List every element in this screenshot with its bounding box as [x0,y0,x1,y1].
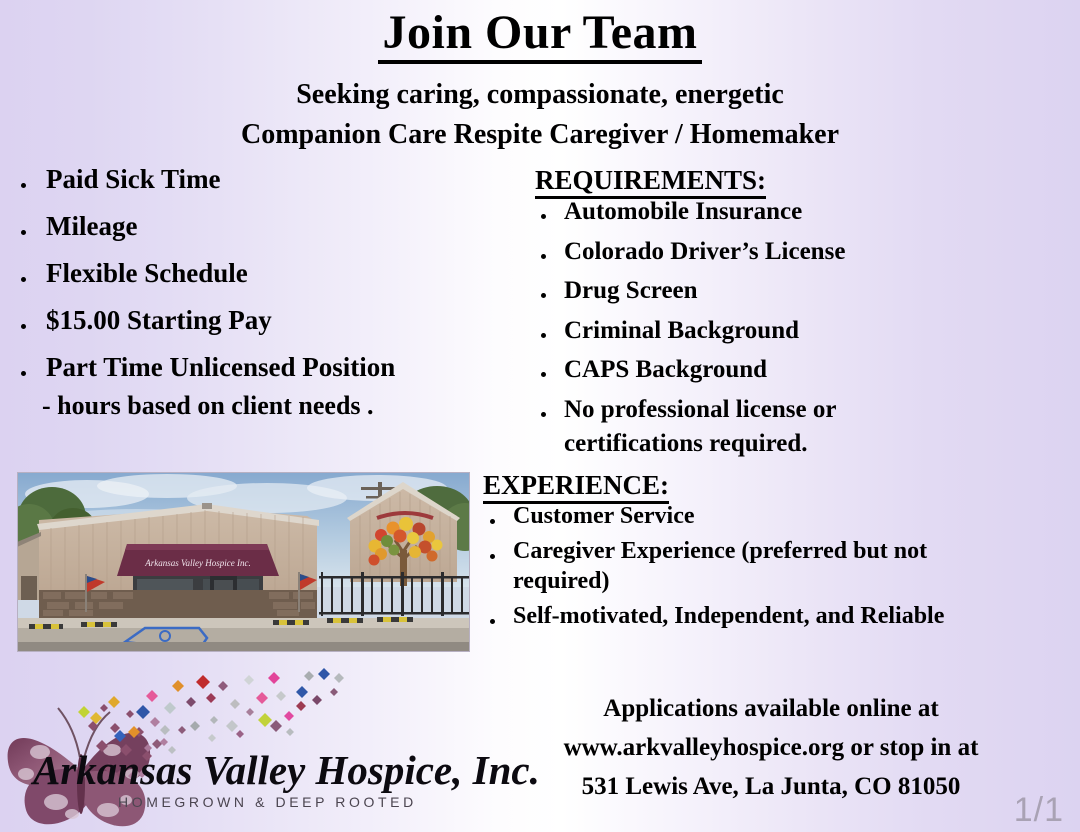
benefit-sublabel: - hours based on client needs . [42,393,480,419]
building-photo: Arkansas Valley Hospice Inc. [17,472,470,652]
page-title: Join Our Team [378,8,701,64]
list-item: Criminal Background [478,318,1080,344]
requirements-heading-wrap: REQUIREMENTS: [478,166,1080,199]
subtitle-line-1: Seeking caring, compassionate, energetic [0,76,1080,114]
list-item: Colorado Driver’s License [478,239,1080,265]
bullet-icon [21,230,26,235]
logo-tagline: HOMEGROWN & DEEP ROOTED [118,794,417,810]
list-item: Caregiver Experience (preferred but not … [478,539,1080,594]
bullet-icon [490,554,495,559]
bullet-icon [490,619,495,624]
list-item: Customer Service [478,504,1080,529]
benefit-label: $15.00 Starting Pay [46,305,272,335]
benefit-label: Part Time Unlicensed Position [46,352,395,382]
requirement-label: Criminal Background [564,317,799,344]
list-item: Drug Screen [478,278,1080,304]
requirement-label: Automobile Insurance [564,198,802,225]
bullet-icon [490,519,495,524]
requirements-heading: REQUIREMENTS: [535,166,766,199]
requirements-column: REQUIREMENTS: Automobile Insurance Color… [478,166,1080,640]
company-logo: Arkansas Valley Hospice, Inc. HOMEGROWN … [0,664,470,832]
apply-line-3: 531 Lewis Ave, La Junta, CO 81050 [462,768,1080,807]
requirements-list: Automobile Insurance Colorado Driver’s L… [478,199,1080,457]
svg-text:Arkansas Valley Hospice Inc.: Arkansas Valley Hospice Inc. [144,558,250,568]
list-item: Flexible Schedule [0,260,480,287]
benefit-label: Mileage [46,211,137,241]
list-item: $15.00 Starting Pay [0,307,480,334]
list-item: Paid Sick Time [0,166,480,193]
subtitle-line-2: Companion Care Respite Caregiver / Homem… [0,116,1080,154]
building-photo-image: Arkansas Valley Hospice Inc. [17,472,470,652]
requirement-label: Colorado Driver’s License [564,238,845,265]
logo-company-name: Arkansas Valley Hospice, Inc. [33,746,453,794]
bullet-icon [21,324,26,329]
benefit-label: Paid Sick Time [46,164,221,194]
requirement-label-cont: certifications required. [564,431,1080,457]
application-info: Applications available online at www.ark… [462,690,1080,806]
list-item: Part Time Unlicensed Position - hours ba… [0,354,480,419]
experience-label: Self-motivated, Independent, and Reliabl… [513,603,944,629]
requirement-label: No professional license or [564,396,836,423]
poster-header: Join Our Team Seeking caring, compassion… [0,0,1080,154]
benefit-label: Flexible Schedule [46,258,248,288]
bullet-icon [541,333,546,338]
bullet-icon [541,412,546,417]
benefits-column: Paid Sick Time Mileage Flexible Schedule… [0,166,480,439]
bullet-icon [541,254,546,259]
experience-label-cont: required) [513,569,1080,594]
bullet-icon [541,293,546,298]
list-item: CAPS Background [478,357,1080,383]
list-item: Automobile Insurance [478,199,1080,225]
bullet-icon [21,277,26,282]
apply-line-2: www.arkvalleyhospice.org or stop in at [462,729,1080,768]
bullet-icon [21,183,26,188]
experience-heading: EXPERIENCE: [483,471,669,504]
requirement-label: Drug Screen [564,277,698,304]
experience-heading-wrap: EXPERIENCE: [478,471,1080,504]
experience-label: Caregiver Experience (preferred but not [513,538,927,564]
job-posting-poster: Join Our Team Seeking caring, compassion… [0,0,1080,832]
experience-label: Customer Service [513,503,695,529]
experience-list: Customer Service Caregiver Experience (p… [478,504,1080,630]
bullet-icon [21,371,26,376]
list-item: Self-motivated, Independent, and Reliabl… [478,604,1080,629]
list-item: No professional license or certification… [478,397,1080,457]
requirement-label: CAPS Background [564,356,767,383]
bullet-icon [541,214,546,219]
page-indicator: 1/1 [1014,791,1064,830]
apply-line-1: Applications available online at [462,690,1080,729]
list-item: Mileage [0,213,480,240]
bullet-icon [541,372,546,377]
benefits-list: Paid Sick Time Mileage Flexible Schedule… [0,166,480,419]
